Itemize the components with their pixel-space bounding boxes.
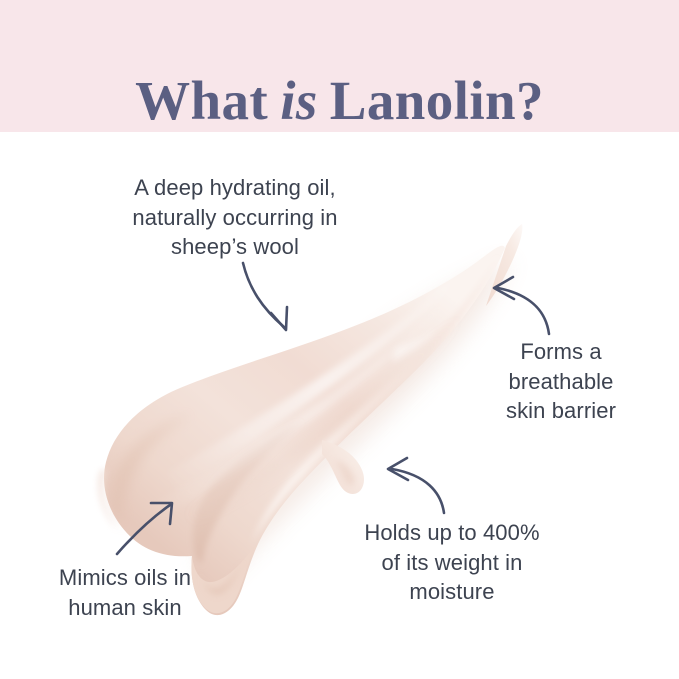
callout-hydrating-line-1: A deep hydrating oil, xyxy=(110,173,360,203)
callout-barrier-line-2: breathable xyxy=(478,367,644,397)
callout-hydrating: A deep hydrating oil, naturally occurrin… xyxy=(110,173,360,262)
callout-mimics-line-2: human skin xyxy=(20,593,230,623)
callout-mimics: Mimics oils in human skin xyxy=(20,563,230,622)
page-title: WhatisLanolin? xyxy=(0,37,679,169)
callout-hydrating-line-2: naturally occurring in xyxy=(110,203,360,233)
callout-moisture: Holds up to 400% of its weight in moistu… xyxy=(332,518,572,607)
callout-moisture-line-1: Holds up to 400% xyxy=(332,518,572,548)
callout-barrier-line-1: Forms a xyxy=(478,337,644,367)
callout-moisture-line-3: moisture xyxy=(332,577,572,607)
callout-barrier-line-3: skin barrier xyxy=(478,396,644,426)
lanolin-infographic: WhatisLanolin? xyxy=(0,0,679,679)
page-title-word-is: is xyxy=(280,72,318,130)
arrow-up-left-icon-barrier xyxy=(494,277,549,334)
arrow-up-left-icon-moisture xyxy=(388,458,444,513)
callout-mimics-line-1: Mimics oils in xyxy=(20,563,230,593)
page-title-word-what: What xyxy=(135,72,268,130)
arrow-up-right-icon xyxy=(117,503,172,554)
callout-barrier: Forms a breathable skin barrier xyxy=(478,337,644,426)
callout-hydrating-line-3: sheep’s wool xyxy=(110,232,360,262)
callout-moisture-line-2: of its weight in xyxy=(332,548,572,578)
page-title-word-lanolin: Lanolin? xyxy=(330,72,544,130)
arrow-down-right-icon xyxy=(243,263,287,330)
